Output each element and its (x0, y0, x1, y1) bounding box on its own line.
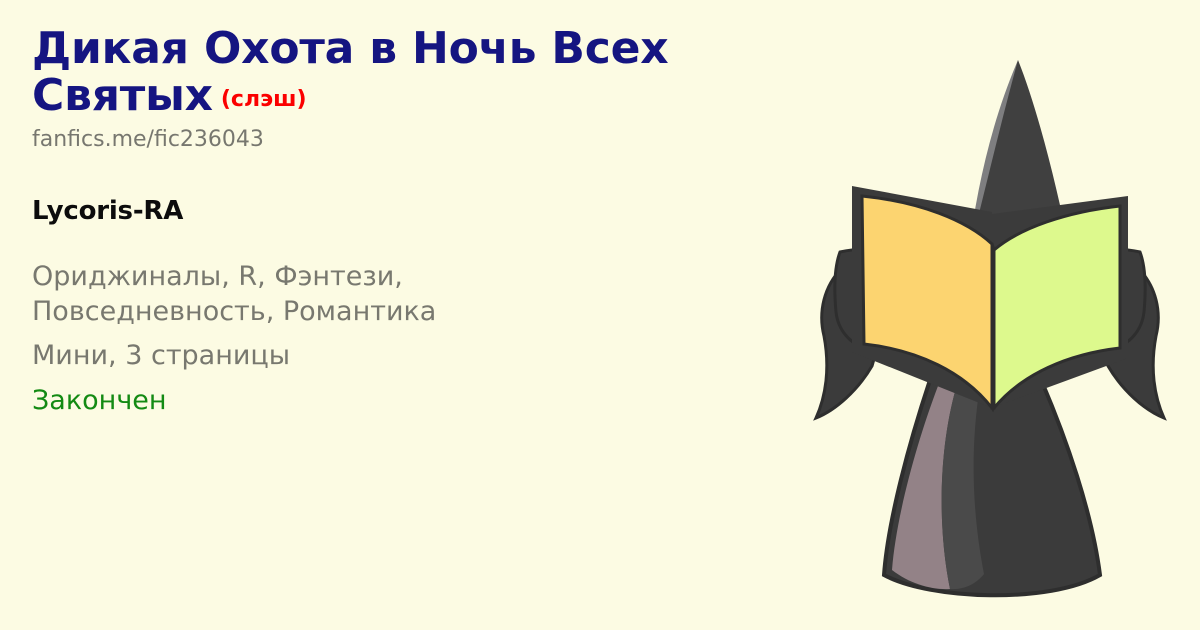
meta-status-line: Закончен (32, 384, 632, 419)
text-column: Дикая Охота в Ночь Всех Святых(слэш) fan… (32, 26, 822, 418)
meta-size-line: Мини, 3 страницы (32, 339, 632, 374)
meta-block: Ориджиналы, R, Фэнтези, Повседневность, … (32, 260, 822, 418)
source-url: fanfics.me/fic236043 (32, 127, 822, 152)
title-block: Дикая Охота в Ночь Всех Святых(слэш) (32, 26, 822, 119)
slash-tag: (слэш) (221, 87, 307, 112)
meta-fandom-line: Ориджиналы, R, Фэнтези, Повседневность, … (32, 260, 632, 329)
author-name: Lycoris-RA (32, 196, 822, 226)
open-book (852, 186, 1128, 408)
witch-robe (884, 380, 1100, 595)
page-title: Дикая Охота в Ночь Всех Святых (32, 23, 668, 121)
social-card: Дикая Охота в Ночь Всех Святых(слэш) fan… (0, 0, 1200, 630)
witch-reading-book-illustration (780, 0, 1200, 630)
